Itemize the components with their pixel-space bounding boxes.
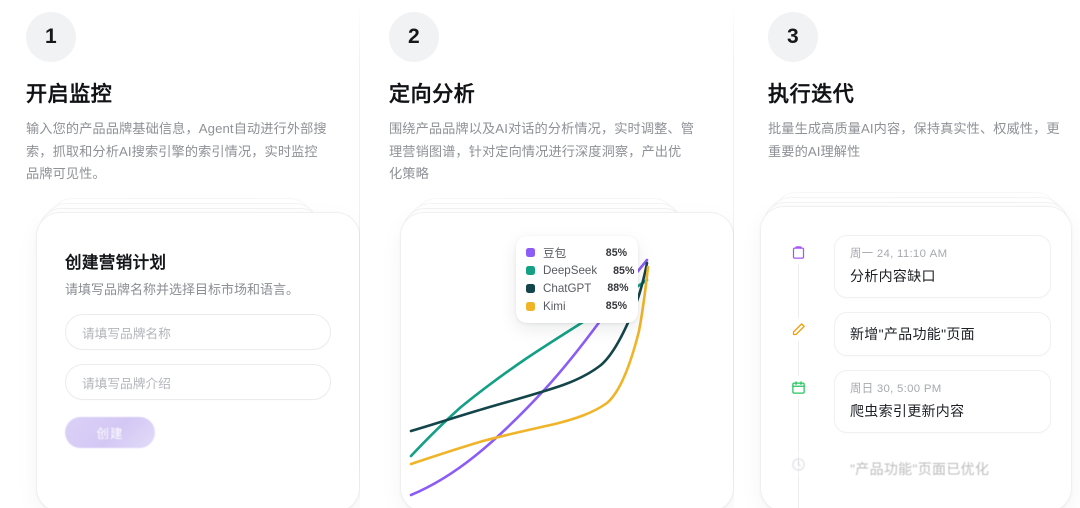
- legend-item: Kimi 85%: [526, 297, 627, 315]
- legend-item: ChatGPT 88%: [526, 280, 627, 298]
- brand-name-placeholder: 请填写品牌名称: [82, 323, 171, 342]
- timeline-timestamp: 周一 24, 11:10 AM: [850, 245, 1035, 261]
- feature-steps-section: 1 开启监控 输入您的产品品牌基础信息，Agent自动进行外部搜索，抓取和分析A…: [0, 0, 1080, 508]
- timeline-card-body: 周一 24, 11:10 AM 分析内容缺口: [834, 235, 1051, 298]
- legend-label-doubao: 豆包: [543, 245, 590, 261]
- step-number-badge-2: 2: [389, 12, 439, 62]
- timeline-timestamp: 周日 30, 5:00 PM: [850, 380, 1035, 396]
- legend-item: DeepSeek 85%: [526, 262, 627, 280]
- create-button-label: 创建: [96, 423, 123, 442]
- step-column-2: 2 定向分析 围绕产品品牌以及AI对话的分析情况，实时调整、管理营销图谱，针对定…: [360, 0, 734, 508]
- step-description-1: 输入您的产品品牌基础信息，Agent自动进行外部搜索，抓取和分析AI搜索引擎的索…: [26, 118, 328, 186]
- create-button[interactable]: 创建: [65, 417, 155, 448]
- legend-swatch-doubao: [526, 248, 535, 257]
- step-title-3: 执行迭代: [768, 78, 854, 108]
- timeline-card-body: 周日 30, 5:00 PM 爬虫索引更新内容: [834, 370, 1051, 433]
- legend-swatch-deepseek: [526, 266, 535, 275]
- form-card-title: 创建营销计划: [65, 249, 331, 273]
- legend-swatch-chatgpt: [526, 284, 535, 293]
- timeline-text: "产品功能"页面已优化: [850, 459, 1035, 479]
- form-card-subtitle: 请填写品牌名称并选择目标市场和语言。: [65, 280, 331, 300]
- step-column-3: 3 执行迭代 批量生成高质量AI内容，保持真实性、权威性，更重要的AI理解性: [734, 0, 1080, 508]
- timeline-text: 分析内容缺口: [850, 266, 1035, 286]
- legend-value-deepseek: 85%: [613, 265, 634, 277]
- timeline-text: 新增"产品功能"页面: [850, 324, 1035, 344]
- step-number-3: 3: [787, 25, 799, 49]
- timeline-card-body: 新增"产品功能"页面: [834, 312, 1051, 356]
- legend-swatch-kimi: [526, 302, 535, 311]
- step-description-2: 围绕产品品牌以及AI对话的分析情况，实时调整、管理营销图谱，针对定向情况进行深度…: [389, 118, 694, 186]
- brand-intro-input[interactable]: 请填写品牌介绍: [65, 364, 331, 400]
- step-column-1: 1 开启监控 输入您的产品品牌基础信息，Agent自动进行外部搜索，抓取和分析A…: [0, 0, 360, 508]
- calendar-icon: [787, 376, 810, 399]
- timeline-item[interactable]: 新增"产品功能"页面: [787, 312, 1051, 356]
- step-title-2: 定向分析: [389, 78, 475, 108]
- pencil-icon: [787, 318, 810, 341]
- legend-label-deepseek: DeepSeek: [543, 264, 597, 277]
- timeline-item[interactable]: 周日 30, 5:00 PM 爬虫索引更新内容: [787, 370, 1051, 433]
- timeline-text: 爬虫索引更新内容: [850, 401, 1035, 421]
- step-description-3: 批量生成高质量AI内容，保持真实性、权威性，更重要的AI理解性: [768, 118, 1068, 163]
- chart-legend: 豆包 85% DeepSeek 85% ChatGPT 88% Kimi 85%: [516, 236, 638, 323]
- brand-intro-placeholder: 请填写品牌介绍: [82, 373, 171, 392]
- clipboard-icon: [787, 241, 810, 264]
- legend-value-kimi: 85%: [606, 300, 627, 312]
- brand-name-input[interactable]: 请填写品牌名称: [65, 314, 331, 350]
- timeline-card: 周一 24, 11:10 AM 分析内容缺口 新增"产品功能"页面: [760, 206, 1072, 508]
- legend-value-doubao: 85%: [606, 247, 627, 259]
- legend-item: 豆包 85%: [526, 244, 627, 262]
- step-number-2: 2: [408, 25, 420, 49]
- legend-value-chatgpt: 88%: [607, 282, 628, 294]
- step-number-badge-3: 3: [768, 12, 818, 62]
- step-number-badge-1: 1: [26, 12, 76, 62]
- step-title-1: 开启监控: [26, 78, 112, 108]
- clock-check-icon: [787, 453, 810, 476]
- activity-timeline: 周一 24, 11:10 AM 分析内容缺口 新增"产品功能"页面: [787, 235, 1051, 505]
- legend-label-chatgpt: ChatGPT: [543, 282, 591, 295]
- timeline-card-body: "产品功能"页面已优化: [834, 447, 1051, 491]
- analytics-chart-card: 豆包 85% DeepSeek 85% ChatGPT 88% Kimi 85%: [400, 212, 734, 508]
- create-campaign-card: 创建营销计划 请填写品牌名称并选择目标市场和语言。 请填写品牌名称 请填写品牌介…: [36, 212, 360, 508]
- timeline-item[interactable]: "产品功能"页面已优化: [787, 447, 1051, 491]
- legend-label-kimi: Kimi: [543, 300, 590, 313]
- step-number-1: 1: [45, 25, 57, 49]
- timeline-item[interactable]: 周一 24, 11:10 AM 分析内容缺口: [787, 235, 1051, 298]
